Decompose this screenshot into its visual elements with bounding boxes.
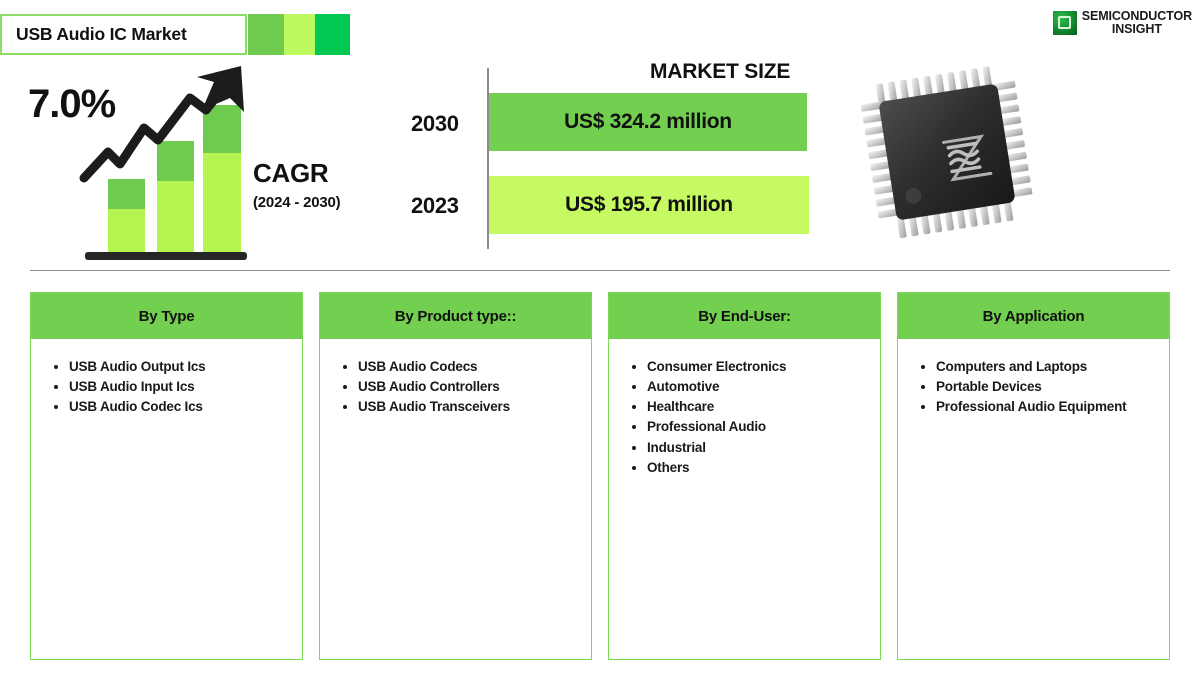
list-item: Automotive bbox=[647, 377, 870, 396]
market-size-value-2030: US$ 324.2 million bbox=[489, 110, 807, 134]
category-body: USB Audio Codecs USB Audio Controllers U… bbox=[320, 339, 591, 659]
category-title: By Application bbox=[983, 308, 1085, 325]
list-item: Computers and Laptops bbox=[936, 357, 1159, 376]
category-body: USB Audio Output Ics USB Audio Input Ics… bbox=[31, 339, 302, 659]
category-header-by-application: By Application bbox=[898, 293, 1169, 339]
header-accent-block-2 bbox=[284, 14, 315, 55]
category-box-by-type: By Type USB Audio Output Ics USB Audio I… bbox=[30, 292, 303, 660]
list-item: USB Audio Input Ics bbox=[69, 377, 292, 396]
category-header-by-product-type: By Product type:: bbox=[320, 293, 591, 339]
category-header-by-end-user: By End-User: bbox=[609, 293, 880, 339]
page-title: USB Audio IC Market bbox=[2, 24, 187, 45]
brand-name-line-1: SEMICONDUCTOR bbox=[1082, 10, 1192, 23]
brand-name-line-2: INSIGHT bbox=[1082, 23, 1192, 36]
category-box-by-application: By Application Computers and Laptops Por… bbox=[897, 292, 1170, 660]
list-item: Professional Audio Equipment bbox=[936, 397, 1159, 416]
cagr-period: (2024 - 2030) bbox=[253, 194, 340, 211]
list-item: Consumer Electronics bbox=[647, 357, 870, 376]
market-size-year-2030: 2030 bbox=[411, 111, 459, 137]
market-size-title: MARKET SIZE bbox=[650, 60, 790, 84]
growth-arrow-icon bbox=[78, 60, 258, 190]
semiconductor-chip-icon bbox=[1053, 11, 1077, 35]
category-list: USB Audio Codecs USB Audio Controllers U… bbox=[330, 357, 581, 416]
category-title: By Type bbox=[139, 308, 195, 325]
page-title-chip: USB Audio IC Market bbox=[0, 14, 247, 55]
market-size-bar-2030: US$ 324.2 million bbox=[489, 93, 807, 151]
section-divider bbox=[30, 270, 1170, 271]
brand-logo: SEMICONDUCTOR INSIGHT bbox=[1053, 10, 1192, 36]
header-accent-block-1 bbox=[248, 14, 284, 55]
list-item: USB Audio Controllers bbox=[358, 377, 581, 396]
cagr-label: CAGR bbox=[253, 158, 328, 189]
list-item: Portable Devices bbox=[936, 377, 1159, 396]
market-size-value-2023: US$ 195.7 million bbox=[489, 193, 809, 217]
category-body: Computers and Laptops Portable Devices P… bbox=[898, 339, 1169, 659]
category-box-by-product-type: By Product type:: USB Audio Codecs USB A… bbox=[319, 292, 592, 660]
growth-bar-1-bottom bbox=[108, 209, 145, 253]
growth-bar-1 bbox=[108, 179, 145, 253]
category-list: Computers and Laptops Portable Devices P… bbox=[908, 357, 1159, 416]
category-list: Consumer Electronics Automotive Healthca… bbox=[619, 357, 870, 477]
category-title: By End-User: bbox=[698, 308, 791, 325]
market-size-bar-2023: US$ 195.7 million bbox=[489, 176, 809, 234]
header-bar: USB Audio IC Market bbox=[0, 14, 350, 55]
list-item: Professional Audio bbox=[647, 417, 870, 436]
category-box-by-end-user: By End-User: Consumer Electronics Automo… bbox=[608, 292, 881, 660]
category-header-by-type: By Type bbox=[31, 293, 302, 339]
market-size-year-2023: 2023 bbox=[411, 193, 459, 219]
growth-bar-2-bottom bbox=[157, 181, 194, 253]
list-item: USB Audio Codec Ics bbox=[69, 397, 292, 416]
list-item: Industrial bbox=[647, 438, 870, 457]
header-accent-block-3 bbox=[315, 14, 350, 55]
growth-chart-baseline bbox=[85, 252, 247, 260]
list-item: USB Audio Transceivers bbox=[358, 397, 581, 416]
list-item: Healthcare bbox=[647, 397, 870, 416]
category-boxes: By Type USB Audio Output Ics USB Audio I… bbox=[30, 292, 1170, 660]
category-list: USB Audio Output Ics USB Audio Input Ics… bbox=[41, 357, 292, 416]
list-item: Others bbox=[647, 458, 870, 477]
brand-logo-text: SEMICONDUCTOR INSIGHT bbox=[1082, 10, 1192, 36]
category-title: By Product type:: bbox=[395, 308, 517, 325]
category-body: Consumer Electronics Automotive Healthca… bbox=[609, 339, 880, 659]
list-item: USB Audio Codecs bbox=[358, 357, 581, 376]
list-item: USB Audio Output Ics bbox=[69, 357, 292, 376]
integrated-circuit-qfp-chip-icon bbox=[845, 50, 1050, 255]
